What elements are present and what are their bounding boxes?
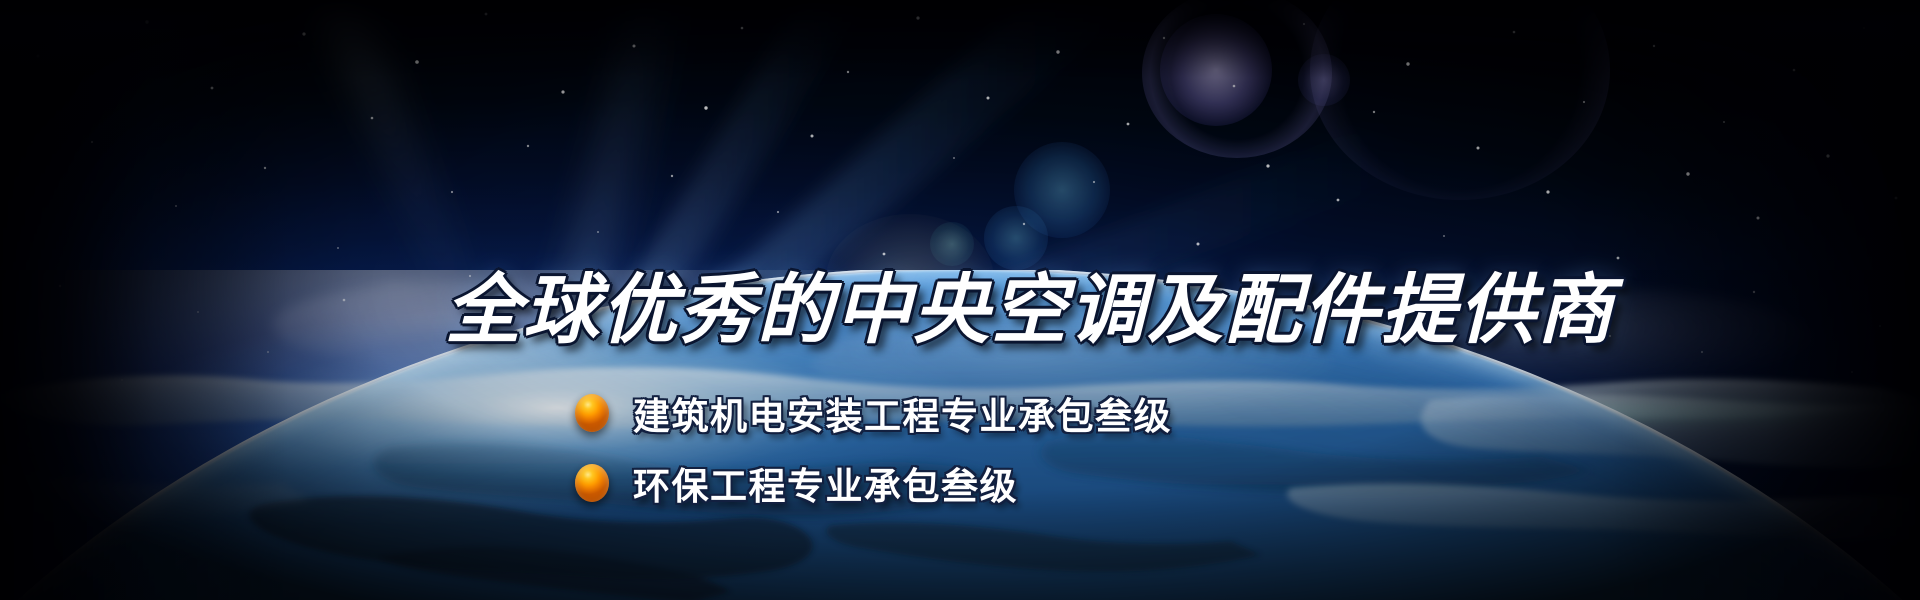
hero-banner: 全球优秀的中央空调及配件提供商 建筑机电安装工程专业承包叁级 环保工程专业承包叁… [0,0,1920,600]
orange-sphere-bullet-icon [575,394,609,432]
bullet-label: 建筑机电安装工程专业承包叁级 [633,386,1172,440]
banner-content: 全球优秀的中央空调及配件提供商 建筑机电安装工程专业承包叁级 环保工程专业承包叁… [0,0,1920,600]
banner-bullet-list: 建筑机电安装工程专业承包叁级 环保工程专业承包叁级 [575,382,1172,522]
banner-headline: 全球优秀的中央空调及配件提供商 [445,248,1615,358]
bullet-label: 环保工程专业承包叁级 [633,456,1018,510]
list-item: 建筑机电安装工程专业承包叁级 [575,382,1172,444]
orange-sphere-bullet-icon [575,464,609,502]
list-item: 环保工程专业承包叁级 [575,452,1172,514]
